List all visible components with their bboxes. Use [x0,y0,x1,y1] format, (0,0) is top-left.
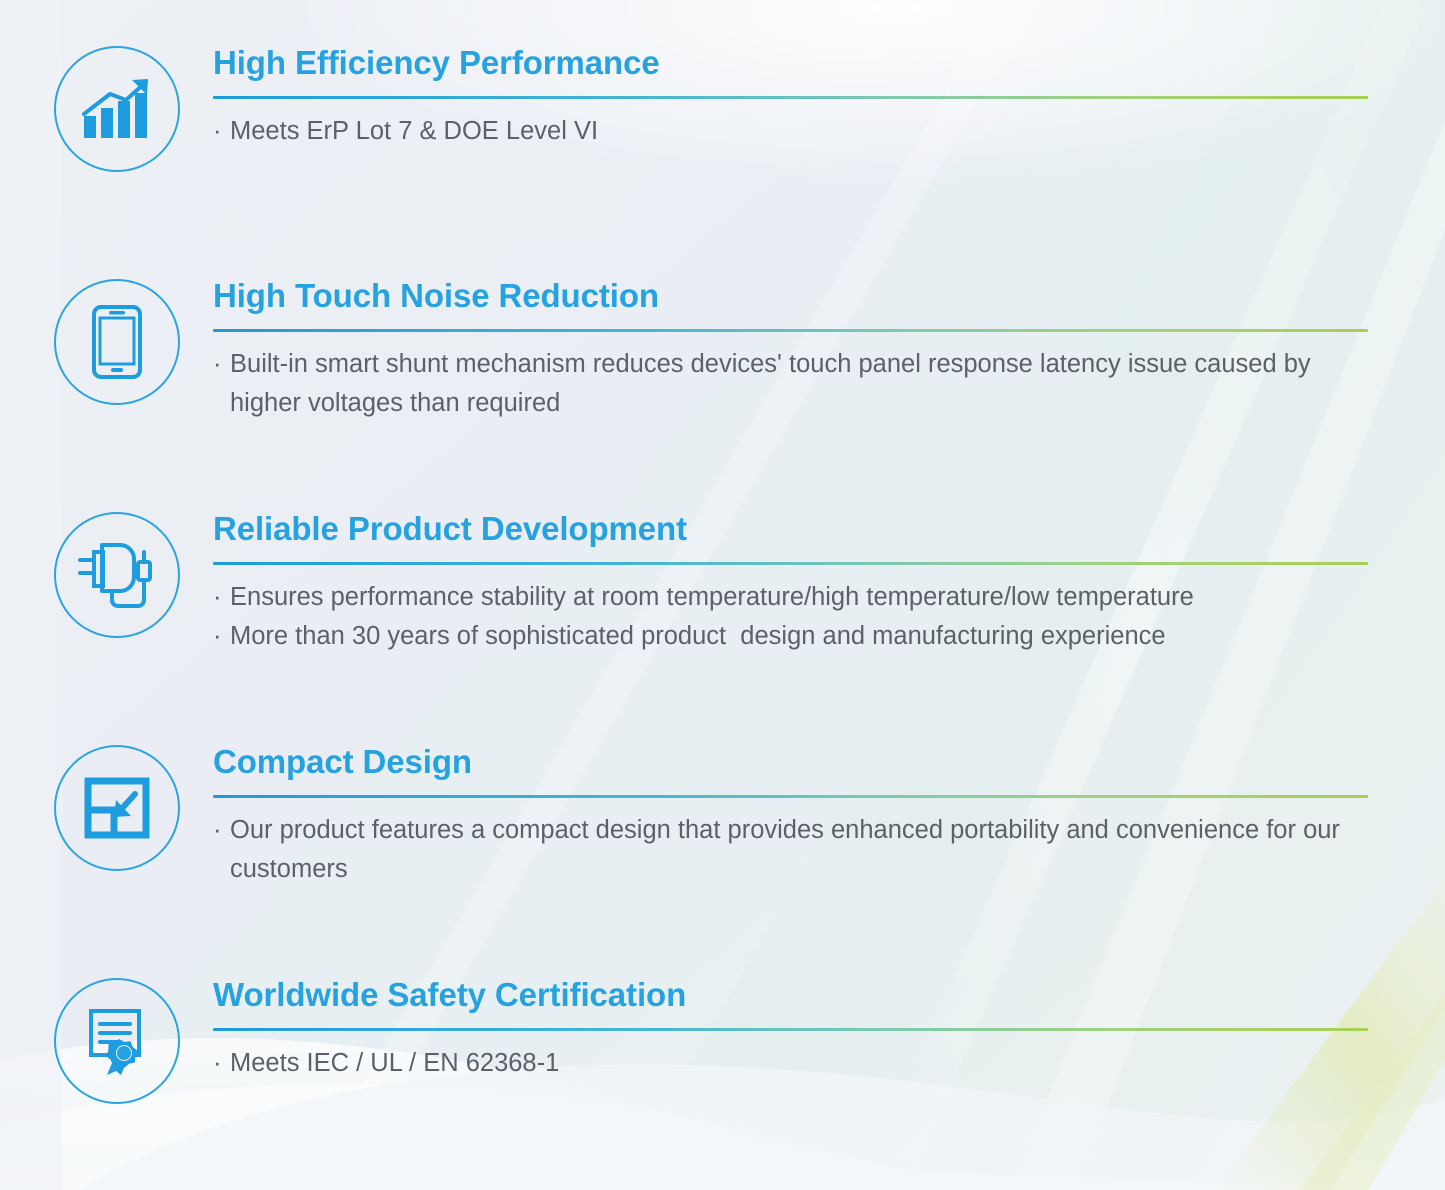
feature-text-block: Worldwide Safety Certification · Meets I… [213,974,1445,1083]
feature-item-worldwide-safety-certification: Worldwide Safety Certification · Meets I… [0,974,1445,1184]
bullet-marker-icon: · [213,345,230,384]
smartphone-icon [54,279,180,405]
bullet-marker-icon: · [213,112,230,151]
feature-title: High Efficiency Performance [213,42,1367,84]
feature-divider [213,1028,1368,1031]
bar-chart-growth-icon [54,46,180,172]
feature-bullet: · More than 30 years of sophisticated pr… [213,617,1367,656]
bullet-marker-icon: · [213,617,230,656]
feature-text-block: Reliable Product Development · Ensures p… [213,508,1445,656]
bullet-text: Meets ErP Lot 7 & DOE Level VI [230,112,1367,151]
feature-bullet-list: · Our product features a compact design … [213,811,1367,889]
feature-bullet: · Our product features a compact design … [213,811,1367,889]
feature-bullet-list: · Meets ErP Lot 7 & DOE Level VI [213,112,1367,151]
power-adapter-icon [54,512,180,638]
feature-bullet: · Meets ErP Lot 7 & DOE Level VI [213,112,1367,151]
feature-bullet: · Ensures performance stability at room … [213,578,1367,617]
bullet-marker-icon: · [213,1044,230,1083]
certificate-seal-icon [54,978,180,1104]
feature-title: Reliable Product Development [213,508,1367,550]
bullet-marker-icon: · [213,811,230,850]
feature-title: High Touch Noise Reduction [213,275,1367,317]
feature-item-high-efficiency-performance: High Efficiency Performance · Meets ErP … [0,42,1445,252]
bullet-text: Built-in smart shunt mechanism reduces d… [230,345,1367,423]
bullet-text: Our product features a compact design th… [230,811,1367,889]
feature-bullet: · Built-in smart shunt mechanism reduces… [213,345,1367,423]
feature-item-reliable-product-development: Reliable Product Development · Ensures p… [0,508,1445,718]
feature-divider [213,562,1368,565]
feature-bullet: · Meets IEC / UL / EN 62368-1 [213,1044,1367,1083]
feature-bullet-list: · Ensures performance stability at room … [213,578,1367,656]
feature-title: Worldwide Safety Certification [213,974,1367,1016]
feature-text-block: Compact Design · Our product features a … [213,741,1445,889]
bullet-text: More than 30 years of sophisticated prod… [230,617,1367,656]
compact-resize-icon [54,745,180,871]
feature-bullet-list: · Built-in smart shunt mechanism reduces… [213,345,1367,423]
feature-divider [213,329,1368,332]
bullet-text: Ensures performance stability at room te… [230,578,1367,617]
feature-item-compact-design: Compact Design · Our product features a … [0,741,1445,951]
feature-title: Compact Design [213,741,1367,783]
feature-bullet-list: · Meets IEC / UL / EN 62368-1 [213,1044,1367,1083]
feature-item-high-touch-noise-reduction: High Touch Noise Reduction · Built-in sm… [0,275,1445,485]
bullet-text: Meets IEC / UL / EN 62368-1 [230,1044,1367,1083]
feature-divider [213,96,1368,99]
bullet-marker-icon: · [213,578,230,617]
feature-text-block: High Touch Noise Reduction · Built-in sm… [213,275,1445,423]
feature-text-block: High Efficiency Performance · Meets ErP … [213,42,1445,151]
feature-divider [213,795,1368,798]
